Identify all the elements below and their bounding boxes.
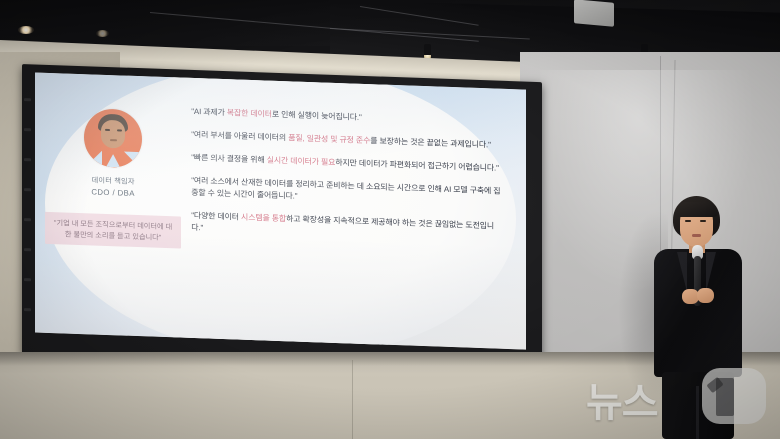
track-spotlight-icon — [424, 44, 431, 56]
downlight-icon — [18, 26, 34, 34]
speaker-hair-fringe — [675, 202, 718, 217]
quote-text: "여러 소스에서 산재한 데이터를 정리하고 준비하는 데 소요되는 시간으로 … — [191, 176, 500, 201]
news1-watermark: 뉴스 — [586, 368, 772, 430]
persona-role-subtitle: CDO / DBA — [91, 187, 134, 198]
speaker-lapel — [677, 252, 687, 292]
screen-surface: 데이터 책임자 CDO / DBA "기업 내 모든 조직으로부터 데이터에 대… — [35, 72, 526, 349]
screen-tension-tab — [24, 128, 31, 131]
speaker-hand — [697, 288, 714, 303]
quote-text: "다양한 데이터 — [191, 211, 241, 222]
downlight-icon — [96, 30, 109, 37]
persona-role-title: 데이터 책임자 — [92, 175, 135, 187]
screen-tension-tab — [24, 248, 31, 251]
quote-text: 로 인해 실행이 늦어집니다." — [272, 110, 362, 122]
speaker-mouth — [692, 234, 701, 237]
quote-text: "빠른 의사 결정을 위해 — [191, 153, 267, 165]
screen-tension-tab — [24, 188, 31, 191]
screen-tension-tab — [24, 218, 31, 221]
quote-text: 하지만 데이터가 파편화되어 접근하기 어렵습니다." — [335, 158, 499, 173]
screen-tension-tab — [24, 98, 31, 101]
ceiling-vent-icon — [574, 0, 614, 27]
projector-screen: 데이터 책임자 CDO / DBA "기업 내 모든 조직으로부터 데이터에 대… — [22, 64, 542, 372]
persona-avatar-icon — [84, 108, 142, 168]
screen-tension-tab — [24, 158, 31, 161]
quote-line: "다양한 데이터 시스템을 통합하고 확장성을 지속적으로 제공해야 하는 것은… — [191, 210, 504, 245]
speaker-eye — [700, 220, 706, 222]
quote-line: "AI 과제가 복잡한 데이터로 인해 실행이 늦어집니다." — [191, 106, 504, 129]
persona-highlight-quote: "기업 내 모든 조직으로부터 데이터에 대한 불만의 소리를 듣고 있습니다" — [45, 212, 181, 249]
watermark-text: 뉴스 — [586, 370, 658, 428]
quote-highlight: 복잡한 데이터 — [227, 108, 272, 119]
quote-line: "여러 부서를 아울러 데이터의 품질, 일관성 및 규정 준수를 보장하는 것… — [191, 129, 504, 152]
speaker-lapel — [706, 252, 716, 292]
quote-highlight: 시스템을 통합 — [241, 213, 286, 224]
screen-tension-tab — [24, 308, 31, 311]
screen-tension-tab — [24, 278, 31, 281]
watermark-numeral-badge — [702, 368, 766, 424]
slide-persona-column: 데이터 책임자 CDO / DBA "기업 내 모든 조직으로부터 데이터에 대… — [35, 72, 187, 337]
quote-highlight: 품질, 일관성 및 규정 준수 — [288, 133, 370, 145]
quote-line: "여러 소스에서 산재한 데이터를 정리하고 준비하는 데 소요되는 시간으로 … — [191, 175, 504, 210]
quote-text: "여러 부서를 아울러 데이터의 — [191, 130, 288, 142]
quote-highlight: 실시간 데이터가 필요 — [267, 156, 336, 167]
speaker-eye — [685, 220, 691, 222]
presentation-slide: 데이터 책임자 CDO / DBA "기업 내 모든 조직으로부터 데이터에 대… — [35, 72, 526, 349]
slide-quotes-column: "AI 과제가 복잡한 데이터로 인해 실행이 늦어집니다." "여러 부서를 … — [187, 78, 526, 350]
quote-text: 를 보장하는 것은 끝없는 과제입니다." — [370, 136, 491, 149]
screenshot-scene: 데이터 책임자 CDO / DBA "기업 내 모든 조직으로부터 데이터에 대… — [0, 0, 780, 439]
wall-panel-seam — [352, 360, 353, 439]
quote-text: "AI 과제가 — [191, 107, 227, 117]
quote-line: "빠른 의사 결정을 위해 실시간 데이터가 필요하지만 데이터가 파편화되어 … — [191, 152, 504, 175]
